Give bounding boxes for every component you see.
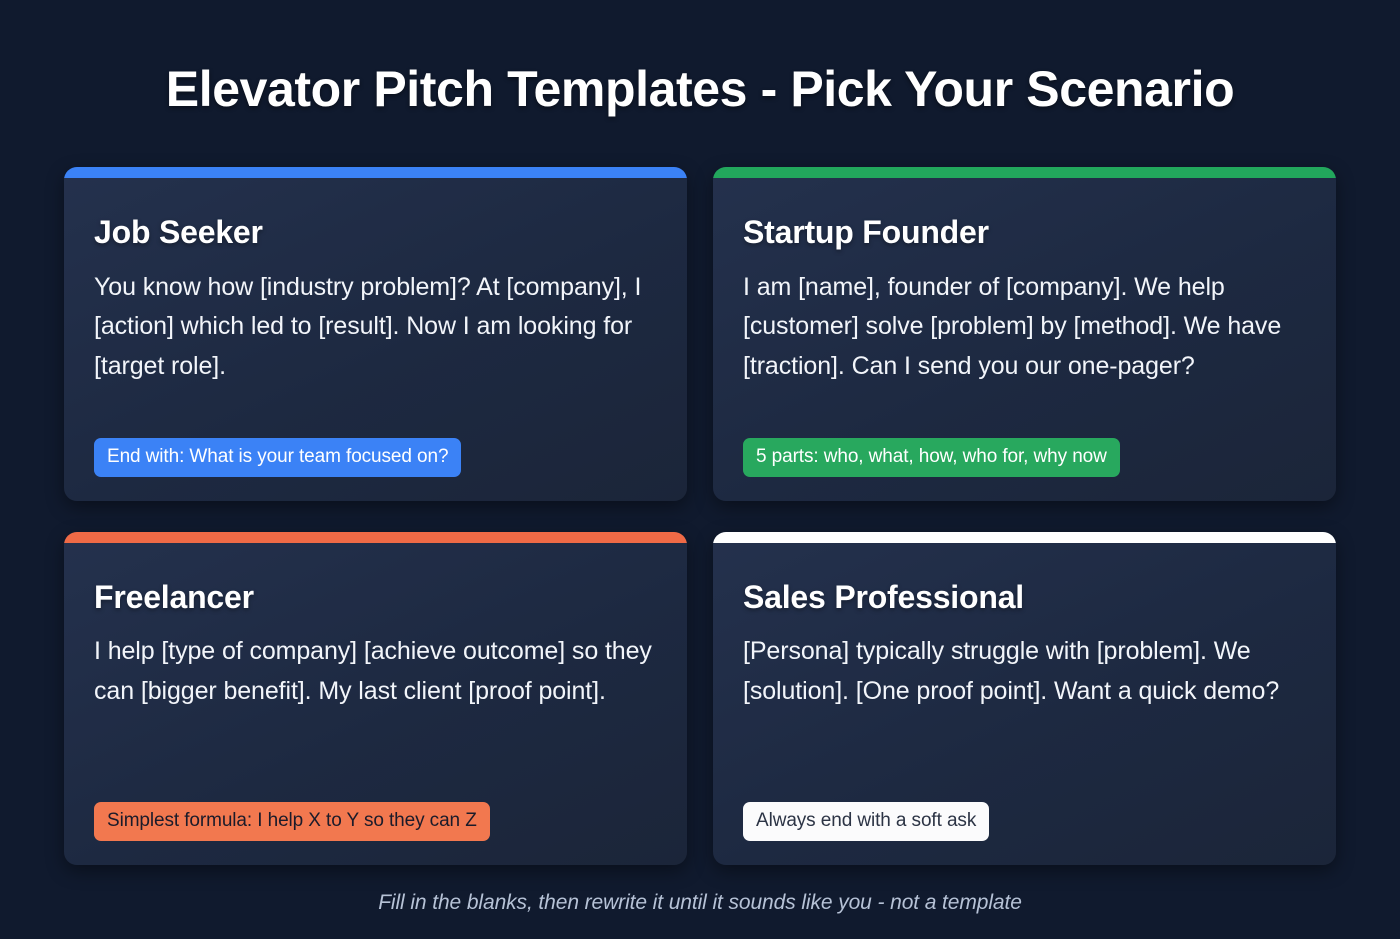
card-title: Job Seeker [94, 214, 657, 251]
card-accent-bar [64, 167, 687, 178]
card-title: Freelancer [94, 579, 657, 616]
card-accent-bar [64, 532, 687, 543]
card-title: Sales Professional [743, 579, 1306, 616]
card-badge: 5 parts: who, what, how, who for, why no… [743, 438, 1120, 477]
card-accent-bar [713, 167, 1336, 178]
card-badge: End with: What is your team focused on? [94, 438, 461, 477]
scenario-card-grid: Job Seeker You know how [industry proble… [0, 116, 1400, 865]
card-title: Startup Founder [743, 214, 1306, 251]
card-badge-row: End with: What is your team focused on? [94, 424, 657, 477]
card-body-text: I am [name], founder of [company]. We he… [743, 268, 1306, 387]
card-body-text: I help [type of company] [achieve outcom… [94, 632, 657, 711]
card-body-text: [Persona] typically struggle with [probl… [743, 632, 1306, 711]
card-body-text: You know how [industry problem]? At [com… [94, 268, 657, 387]
slide-root: Elevator Pitch Templates - Pick Your Sce… [0, 0, 1400, 939]
card-badge-row: Simplest formula: I help X to Y so they … [94, 788, 657, 841]
card-badge: Simplest formula: I help X to Y so they … [94, 802, 490, 841]
card-badge-row: Always end with a soft ask [743, 788, 1306, 841]
scenario-card-freelancer[interactable]: Freelancer I help [type of company] [ach… [64, 532, 687, 866]
page-title: Elevator Pitch Templates - Pick Your Sce… [0, 0, 1400, 116]
card-badge-row: 5 parts: who, what, how, who for, why no… [743, 436, 1306, 477]
card-badge: Always end with a soft ask [743, 802, 989, 841]
scenario-card-sales-professional[interactable]: Sales Professional [Persona] typically s… [713, 532, 1336, 866]
card-accent-bar [713, 532, 1336, 543]
footer-note: Fill in the blanks, then rewrite it unti… [0, 865, 1400, 939]
scenario-card-startup-founder[interactable]: Startup Founder I am [name], founder of … [713, 167, 1336, 501]
scenario-card-job-seeker[interactable]: Job Seeker You know how [industry proble… [64, 167, 687, 501]
